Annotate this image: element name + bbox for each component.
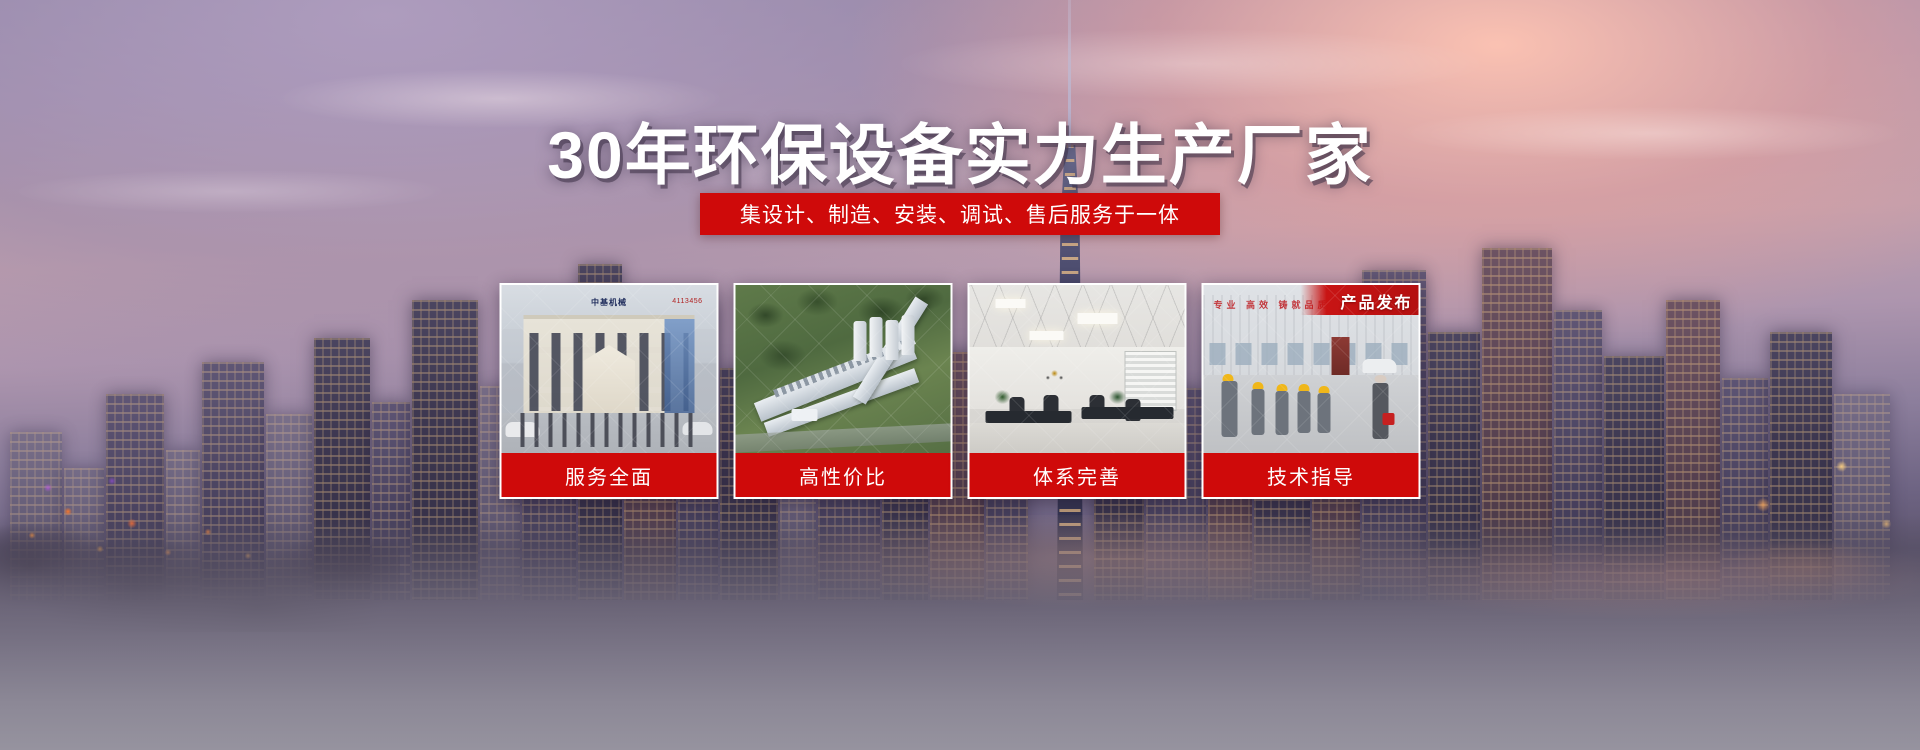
- feature-card-label: 服务全面: [502, 453, 717, 497]
- hero-banner: 30年环保设备实力生产厂家 集设计、制造、安装、调试、售后服务于一体 中基机械 …: [0, 0, 1920, 750]
- factory-red-banner: 产品发布: [1301, 285, 1419, 315]
- feature-card[interactable]: 专业 高效 铸就品质 成就辉煌 产品发布 技术指导: [1202, 283, 1421, 499]
- feature-card[interactable]: 高性价比: [734, 283, 953, 499]
- aerial-production-plant-photo: [736, 285, 951, 453]
- feature-card-label: 高性价比: [736, 453, 951, 497]
- subtitle-banner: 集设计、制造、安装、调试、售后服务于一体: [700, 193, 1220, 235]
- building-sign-text: 中基机械: [591, 297, 627, 308]
- factory-staff-photo: 专业 高效 铸就品质 成就辉煌 产品发布: [1204, 285, 1419, 453]
- building-phone-text: 4113456: [672, 298, 702, 305]
- feature-card[interactable]: 体系完善: [968, 283, 1187, 499]
- feature-card[interactable]: 中基机械 4113456 服务全面: [500, 283, 719, 499]
- company-headquarters-photo: 中基机械 4113456: [502, 285, 717, 453]
- feature-card-label: 技术指导: [1204, 453, 1419, 497]
- feature-card-label: 体系完善: [970, 453, 1185, 497]
- water-reflection: [0, 515, 1920, 750]
- page-title: 30年环保设备实力生产厂家: [0, 102, 1920, 198]
- subtitle-text: 集设计、制造、安装、调试、售后服务于一体: [740, 199, 1180, 229]
- factory-banner-text: 产品发布: [1340, 289, 1412, 313]
- office-workspace-photo: [970, 285, 1185, 453]
- feature-card-row: 中基机械 4113456 服务全面: [500, 283, 1421, 499]
